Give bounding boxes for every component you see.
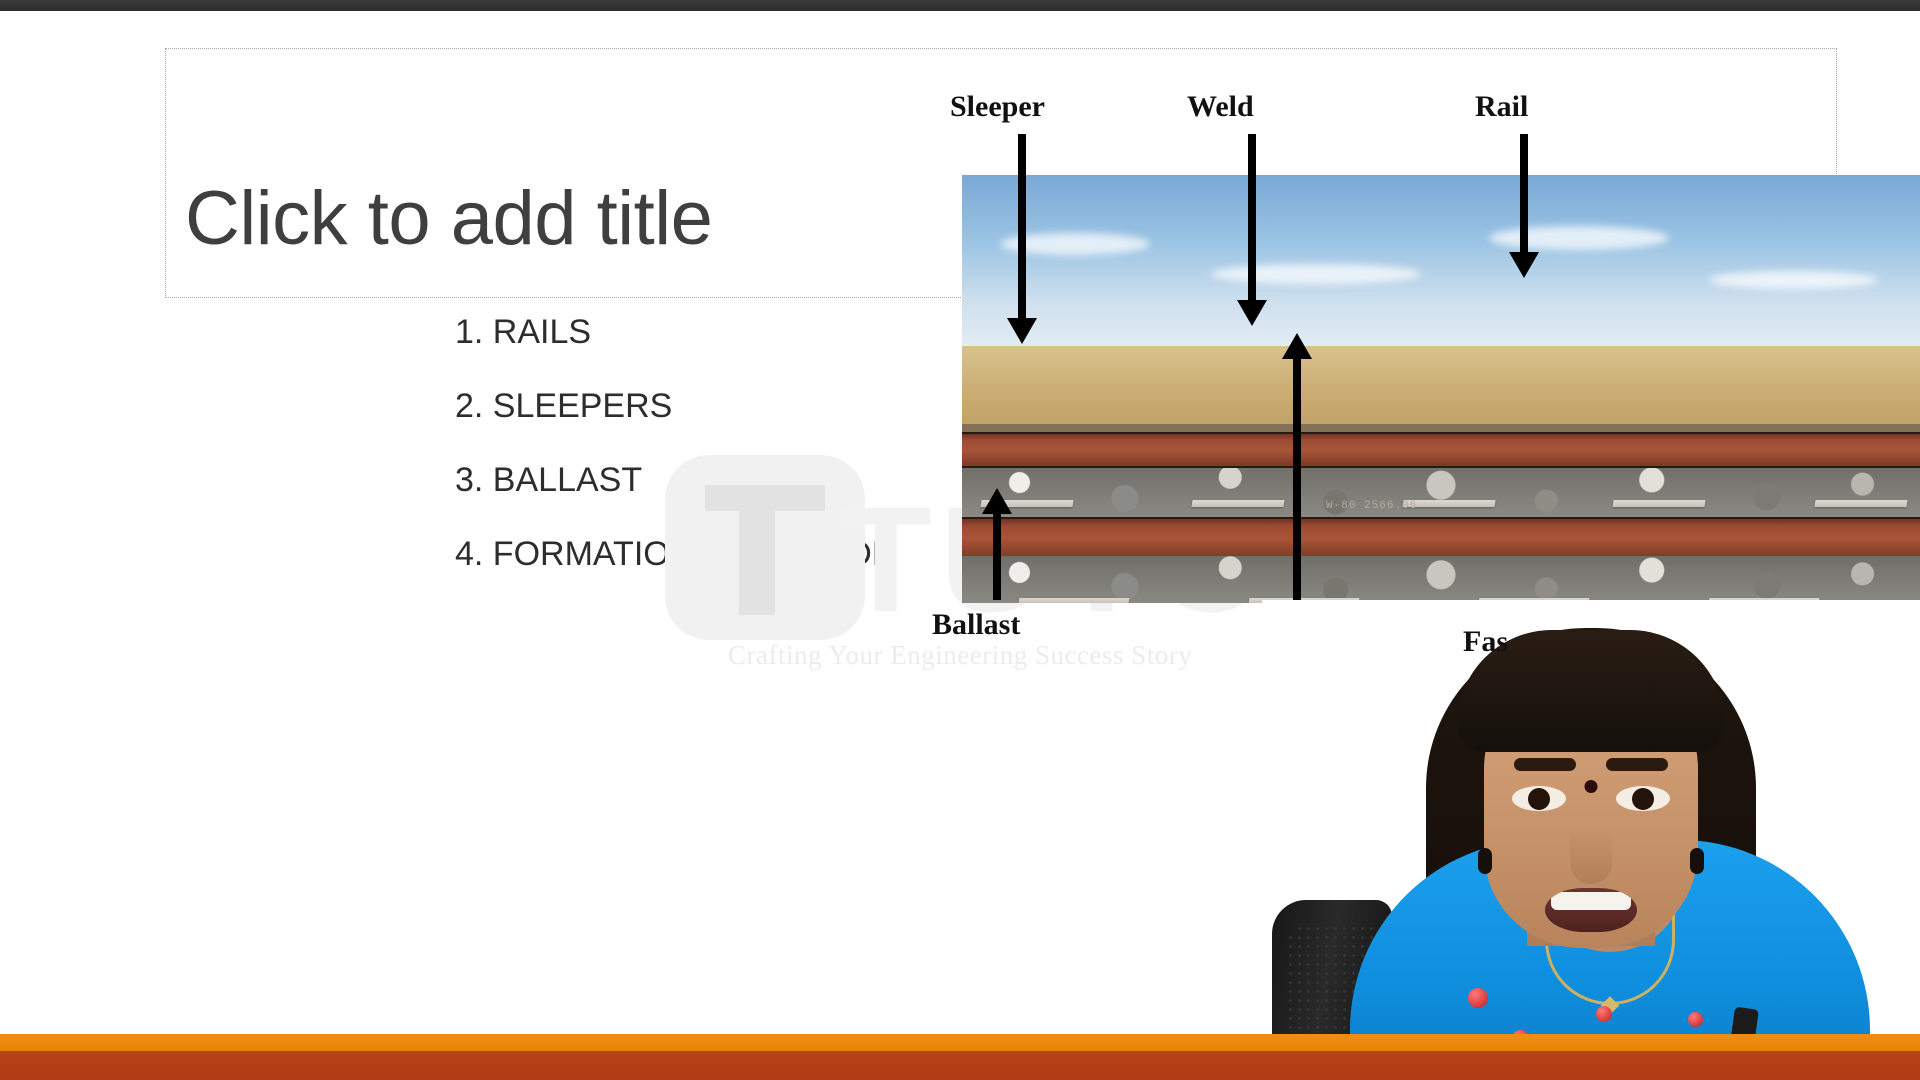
label-sleeper: Sleeper	[950, 90, 1045, 124]
bottom-accent-bar	[0, 1034, 1920, 1080]
sky-region	[962, 175, 1920, 346]
weld-marking: W-80 2566.06	[1326, 500, 1417, 512]
rail-lower	[962, 517, 1920, 560]
arrow-ballast-icon	[982, 488, 1012, 600]
arrow-sleeper-icon	[1007, 134, 1037, 344]
bottom-bar-dark-orange	[0, 1051, 1920, 1080]
ballast-upper	[962, 464, 1920, 518]
top-chrome-bar	[0, 0, 1920, 11]
slide-canvas: Click to add title 1. RAILS 2. SLEEPERS …	[0, 0, 1920, 1080]
label-ballast: Ballast	[932, 608, 1020, 642]
nose	[1570, 832, 1612, 884]
rail-upper	[962, 432, 1920, 468]
page-title[interactable]: Click to add title	[185, 175, 712, 262]
label-fastening: Fas	[1463, 625, 1508, 659]
eye-right	[1616, 786, 1670, 811]
label-weld: Weld	[1187, 90, 1254, 124]
arrow-fastening-icon	[1282, 333, 1312, 601]
presenter-video-overlay[interactable]	[1262, 600, 1920, 1080]
arrow-weld-icon	[1237, 134, 1267, 326]
earring-right	[1690, 848, 1704, 874]
bindi	[1585, 780, 1598, 793]
ballast-lower	[962, 556, 1920, 603]
mouth	[1545, 888, 1637, 932]
bottom-bar-orange	[0, 1034, 1920, 1051]
eye-left	[1512, 786, 1566, 811]
label-rail: Rail	[1475, 90, 1528, 124]
earring-left	[1478, 848, 1492, 874]
field-region	[962, 346, 1920, 432]
arrow-rail-icon	[1509, 134, 1539, 278]
railway-track-photo: W-80 2566.06	[962, 175, 1920, 603]
